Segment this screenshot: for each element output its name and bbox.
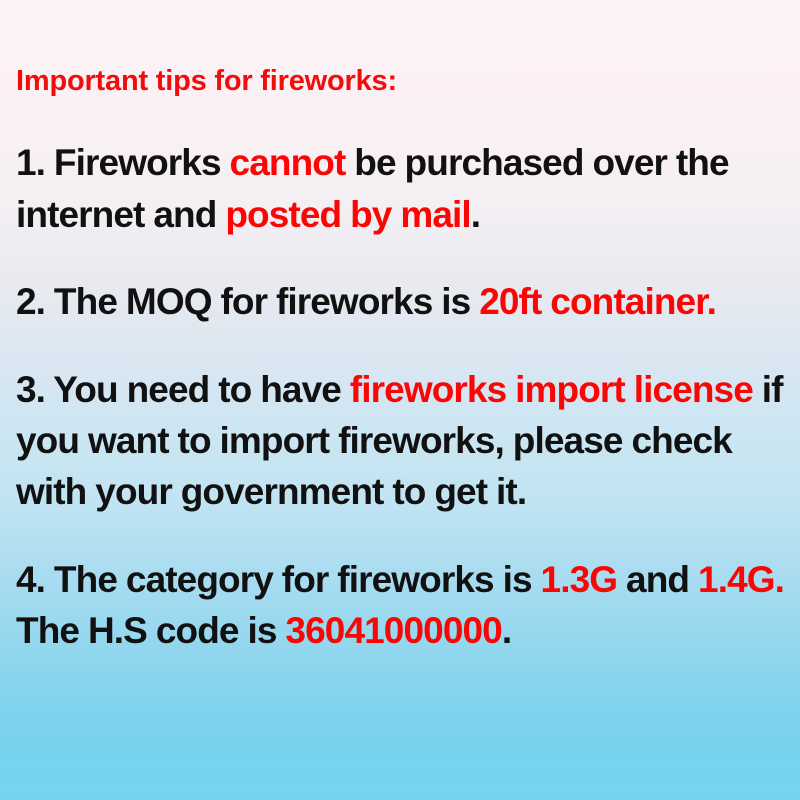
tip-text: . <box>471 194 480 235</box>
tip-highlight-text: 1.4G. <box>698 559 784 600</box>
tip-item-3: 3. You need to have fireworks import lic… <box>16 364 786 518</box>
tip-highlight-text: 36041000000 <box>285 610 501 651</box>
tip-highlight-text: 20ft container. <box>479 281 716 322</box>
tip-text: 2. The MOQ for fireworks is <box>16 281 479 322</box>
tip-highlight-text: cannot <box>230 142 346 183</box>
tip-text: 1. Fireworks <box>16 142 230 183</box>
tip-highlight-text: 1.3G <box>541 559 618 600</box>
tip-text: 4. The category for fireworks is <box>16 559 541 600</box>
tip-item-4: 4. The category for fireworks is 1.3G an… <box>16 554 786 657</box>
tips-list: 1. Fireworks cannot be purchased over th… <box>16 137 786 656</box>
page-title: Important tips for fireworks: <box>16 64 786 99</box>
fireworks-tips-poster: Important tips for fireworks: 1. Firewor… <box>0 0 800 800</box>
tip-text: The H.S code is <box>16 610 285 651</box>
tip-text: . <box>502 610 511 651</box>
tip-highlight-text: posted by mail <box>225 194 470 235</box>
tip-text: and <box>617 559 698 600</box>
tip-item-2: 2. The MOQ for fireworks is 20ft contain… <box>16 276 786 327</box>
tip-item-1: 1. Fireworks cannot be purchased over th… <box>16 137 786 240</box>
tips-content: Important tips for fireworks: 1. Firewor… <box>16 64 786 657</box>
tip-highlight-text: fireworks import license <box>350 369 753 410</box>
tip-text: 3. You need to have <box>16 369 350 410</box>
